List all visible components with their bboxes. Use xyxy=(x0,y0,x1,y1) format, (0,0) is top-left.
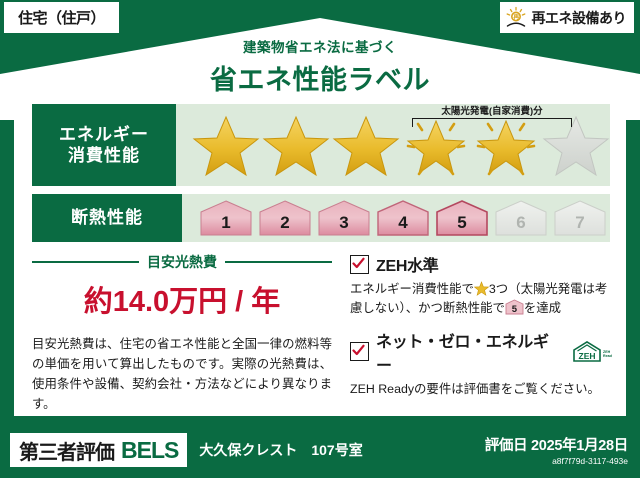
insulation-level-7-inactive: 7 xyxy=(552,198,608,238)
insulation-badge-value: 5 xyxy=(505,303,524,317)
svg-text:ZEH: ZEH xyxy=(579,351,596,361)
criterion-nze-name: ネット・ゼロ・エネルギー xyxy=(376,328,560,376)
utility-cost-note: 目安光熱費は、住宅の省エネ性能と全国一律の燃料等の単価を用いて算出したものです。… xyxy=(32,334,332,414)
evaluation-date: 評価日 2025年1月28日 xyxy=(485,434,628,455)
building-type-text: 住宅（住戸） xyxy=(18,7,105,28)
star-2-filled xyxy=(262,112,330,178)
utility-cost-heading-text: 目安光熱費 xyxy=(147,252,217,272)
star-3-filled xyxy=(332,112,400,178)
insulation-badge-icon: 5 xyxy=(505,299,524,315)
insulation-level-6-value: 6 xyxy=(493,213,549,233)
label-body: エネルギー 消費性能 xyxy=(14,96,626,416)
renewable-equipment-badge: 再 再エネ設備あり xyxy=(500,2,635,33)
insulation-level-4-active: 4 xyxy=(375,198,431,238)
insulation-level-2-active: 2 xyxy=(257,198,313,238)
energy-label-line1: エネルギー xyxy=(59,124,149,145)
energy-row-content: 太陽光発電(自家消費)分 xyxy=(176,104,610,186)
svg-text:Ready: Ready xyxy=(603,354,612,358)
insulation-level-2-value: 2 xyxy=(257,213,313,233)
bels-jp-text: 第三者評価 xyxy=(19,436,114,465)
solar-bracket-line xyxy=(412,118,572,127)
criterion-nze-title: ネット・ゼロ・エネルギー ZEH ZEH Ready xyxy=(350,328,612,376)
criterion-nze-desc: ZEH Readyの要件は評価書をご覧ください。 xyxy=(350,380,612,399)
sun-icon: 再 xyxy=(504,6,528,30)
utility-cost-heading: 目安光熱費 xyxy=(32,252,332,272)
renewable-badge-text: 再エネ設備あり xyxy=(532,8,627,28)
label-subtitle: 建築物省エネ法に基づく xyxy=(0,36,640,56)
energy-label-line2: 消費性能 xyxy=(59,145,149,166)
check-icon-net-zero xyxy=(350,342,369,361)
solar-bracket-label: 太陽光発電(自家消費)分 xyxy=(412,106,572,117)
criterion-net-zero-energy: ネット・ゼロ・エネルギー ZEH ZEH Ready ZEH Readyの要件は… xyxy=(350,328,612,399)
label-footer: 第三者評価 BELS 大久保クレスト 107号室 評価日 2025年1月28日 … xyxy=(0,422,640,478)
insulation-level-4-value: 4 xyxy=(375,213,431,233)
evaluation-id: a8f7f79d-3117-493e xyxy=(485,456,628,466)
criterion-zeh-title: ZEH水準 xyxy=(350,252,612,276)
bels-badge: 第三者評価 BELS xyxy=(10,433,187,467)
insulation-row-content: 1 2 3 4 5 xyxy=(182,194,610,242)
evaluation-info: 評価日 2025年1月28日 a8f7f79d-3117-493e xyxy=(485,434,628,466)
property-name: 大久保クレスト 107号室 xyxy=(199,440,362,460)
utility-cost-value: 約14.0万円 / 年 xyxy=(32,278,332,320)
svg-text:再: 再 xyxy=(513,13,519,21)
solar-bracket: 太陽光発電(自家消費)分 xyxy=(412,106,572,128)
insulation-row-label: 断熱性能 xyxy=(32,194,182,242)
insulation-performance-row: 断熱性能 1 2 3 xyxy=(32,194,610,242)
check-icon-zeh-level xyxy=(350,255,369,274)
insulation-level-1-active: 1 xyxy=(198,198,254,238)
bels-en-text: BELS xyxy=(121,437,178,464)
heading-rule-left xyxy=(32,261,139,263)
star-icon xyxy=(474,281,489,296)
energy-performance-row: エネルギー 消費性能 xyxy=(32,104,610,186)
insulation-levels: 1 2 3 4 5 xyxy=(182,198,608,238)
label-heading: 建築物省エネ法に基づく 省エネ性能ラベル xyxy=(0,36,640,97)
criteria-block: ZEH水準 エネルギー消費性能で3つ（太陽光発電は考慮しない）、かつ断熱性能で5… xyxy=(350,252,612,409)
label-title: 省エネ性能ラベル xyxy=(0,58,640,97)
insulation-level-5-value: 5 xyxy=(434,213,490,233)
insulation-level-1-value: 1 xyxy=(198,213,254,233)
energy-performance-label: 住宅（住戸） 再 再エネ設備あり 建築物省エネ法に基づく 省エネ性能ラベル xyxy=(0,0,640,478)
criterion-zeh-level: ZEH水準 エネルギー消費性能で3つ（太陽光発電は考慮しない）、かつ断熱性能で5… xyxy=(350,252,612,318)
insulation-level-3-active: 3 xyxy=(316,198,372,238)
criterion-zeh-desc-part3: を達成 xyxy=(524,301,561,315)
insulation-level-5-active-achieved: 5 xyxy=(434,198,490,238)
criterion-zeh-desc-part1: エネルギー消費性能で xyxy=(350,282,474,296)
criterion-zeh-desc: エネルギー消費性能で3つ（太陽光発電は考慮しない）、かつ断熱性能で5を達成 xyxy=(350,280,612,318)
heading-rule-right xyxy=(225,261,332,263)
insulation-level-3-value: 3 xyxy=(316,213,372,233)
star-1-filled xyxy=(192,112,260,178)
utility-cost-block: 目安光熱費 約14.0万円 / 年 目安光熱費は、住宅の省エネ性能と全国一律の燃… xyxy=(32,252,332,414)
insulation-level-7-value: 7 xyxy=(552,213,608,233)
energy-row-label: エネルギー 消費性能 xyxy=(32,104,176,186)
insulation-level-6-inactive: 6 xyxy=(493,198,549,238)
building-type-badge: 住宅（住戸） xyxy=(4,2,119,33)
criterion-zeh-name: ZEH水準 xyxy=(376,252,439,276)
zeh-house-logo-icon: ZEH ZEH Ready xyxy=(570,340,612,364)
